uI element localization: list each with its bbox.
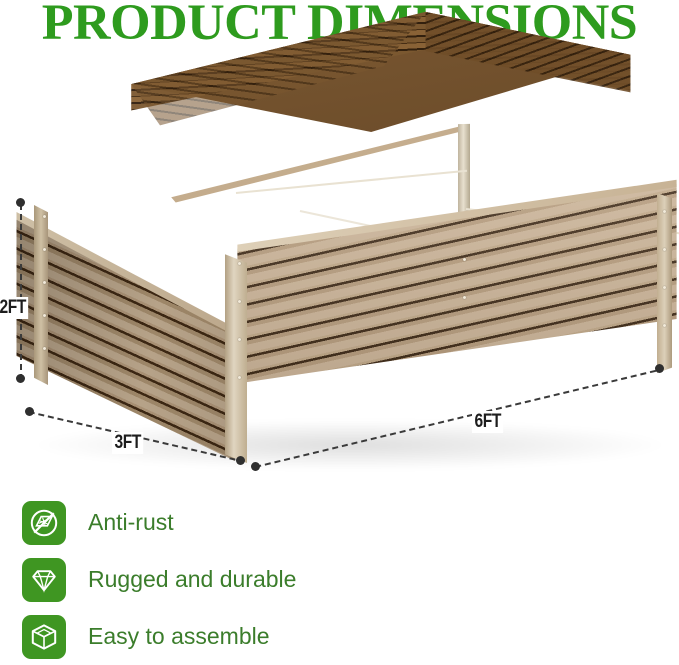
dimension-height-line	[20, 204, 22, 380]
dimension-endpoint-dot	[16, 374, 25, 383]
feature-label: Anti-rust	[88, 509, 174, 536]
screw	[43, 347, 46, 350]
feature-item-anti-rust: Anti-rust	[22, 494, 452, 551]
screw	[663, 210, 666, 213]
screw	[663, 324, 666, 327]
feature-item-easy-assemble: Easy to assemble	[22, 608, 452, 665]
dimension-endpoint-dot	[655, 364, 664, 373]
screw	[238, 338, 241, 341]
dimension-endpoint-dot	[236, 456, 245, 465]
screw	[238, 262, 241, 265]
screw	[43, 248, 46, 251]
screw	[43, 215, 46, 218]
corner-post-right	[657, 193, 672, 373]
corner-post-left	[34, 205, 48, 385]
feature-label: Easy to assemble	[88, 623, 270, 650]
screw	[238, 300, 241, 303]
dimension-width-label: 3FT	[112, 432, 143, 454]
dimension-endpoint-dot	[16, 198, 25, 207]
screw	[663, 286, 666, 289]
feature-list: Anti-rust Rugged and durable Easy to ass…	[22, 494, 452, 665]
diamond-icon	[22, 558, 66, 602]
screw	[238, 376, 241, 379]
screw	[43, 281, 46, 284]
product-illustration	[0, 0, 679, 500]
dimension-length-label: 6FT	[472, 411, 503, 433]
screw	[463, 296, 466, 299]
dimension-height-label: 2FT	[0, 297, 28, 319]
dimension-endpoint-dot	[251, 462, 260, 471]
anti-rust-icon	[22, 501, 66, 545]
screw	[663, 248, 666, 251]
cube-box-icon	[22, 615, 66, 659]
screw	[43, 314, 46, 317]
corner-post-front	[225, 250, 247, 463]
feature-item-rugged: Rugged and durable	[22, 551, 452, 608]
screw	[463, 258, 466, 261]
feature-label: Rugged and durable	[88, 566, 296, 593]
dimension-endpoint-dot	[25, 407, 34, 416]
